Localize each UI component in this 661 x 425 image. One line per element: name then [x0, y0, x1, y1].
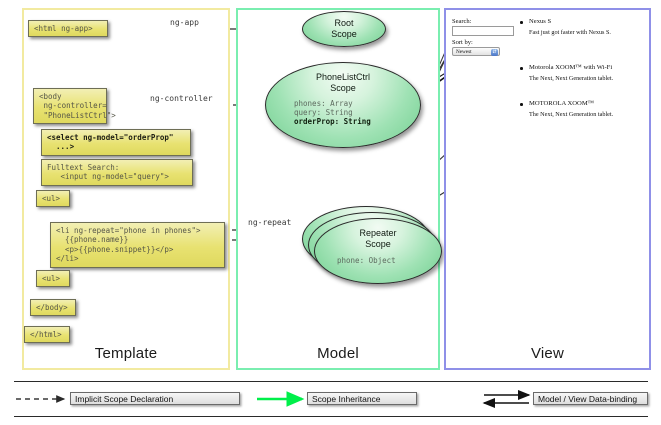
- edge-label-ng-app: ng-app: [168, 18, 201, 27]
- view-sort-select[interactable]: Newest ⇵: [452, 47, 500, 56]
- view-sort-label: Sort by:: [452, 39, 473, 46]
- view-search-input[interactable]: [452, 26, 514, 36]
- edge-label-ng-repeat: ng-repeat: [246, 218, 293, 227]
- panel-template-label: Template: [24, 345, 228, 362]
- scope-phonelistctrl: PhoneListCtrl Scope phones: Array query:…: [265, 62, 421, 148]
- scope-root-title-2: Scope: [303, 29, 385, 40]
- legend-bottom-rule: [14, 416, 648, 417]
- view-phone-name: MOTOROLA XOOM™: [529, 100, 594, 107]
- panel-model-label: Model: [238, 345, 438, 362]
- code-select-tag: <select ng-model="orderProp" ...>: [41, 129, 191, 156]
- legend-item-scope-inheritance: Scope Inheritance: [307, 392, 417, 405]
- scope-prop-phones: phones: Array: [294, 99, 420, 108]
- code-body-close: </body>: [30, 299, 76, 316]
- code-body-open: <body ng-controller= "PhoneListCtrl">: [33, 88, 107, 124]
- view-phone-snippet: The Next, Next Generation tablet.: [529, 75, 613, 82]
- scope-repeater-title-1: Repeater: [315, 219, 441, 239]
- scope-root: Root Scope: [302, 11, 386, 47]
- view-sort-value: Newest: [456, 49, 472, 55]
- scope-prop-orderprop: orderProp: String: [294, 117, 420, 126]
- scope-root-title-1: Root: [303, 12, 385, 29]
- code-html-close: </html>: [24, 326, 70, 343]
- view-phone-name: Motorola XOOM™ with Wi-Fi: [529, 64, 612, 71]
- view-phone-snippet: Fast just got faster with Nexus S.: [529, 29, 611, 36]
- code-li-repeat: <li ng-repeat="phone in phones"> {{phone…: [50, 222, 225, 268]
- bullet-icon: [520, 21, 523, 24]
- code-ul-close: <ul>: [36, 270, 70, 287]
- legend-item-implicit-scope-declaration: Implicit Scope Declaration: [70, 392, 240, 405]
- scope-prop-phone: phone: Object: [337, 256, 441, 265]
- panel-view: View: [444, 8, 651, 370]
- legend: Implicit Scope Declaration Scope Inherit…: [14, 381, 648, 417]
- code-search-input: Fulltext Search: <input ng-model="query"…: [41, 159, 193, 186]
- view-phone-snippet: The Next, Next Generation tablet.: [529, 111, 613, 118]
- code-html-open: <html ng-app>: [28, 20, 108, 37]
- bullet-icon: [520, 67, 523, 70]
- scope-phonelistctrl-title-2: Scope: [266, 83, 420, 94]
- view-search-label: Search:: [452, 18, 472, 25]
- diagram-canvas: Template <html ng-app> <body ng-controll…: [0, 0, 661, 425]
- view-phone-name: Nexus S: [529, 18, 551, 25]
- scope-prop-query: query: String: [294, 108, 420, 117]
- scope-repeater-title-2: Scope: [315, 239, 441, 250]
- scope-phonelistctrl-title-1: PhoneListCtrl: [266, 63, 420, 83]
- legend-top-rule: [14, 381, 648, 382]
- panel-view-label: View: [446, 345, 649, 362]
- legend-item-model-view-data-binding: Model / View Data-binding: [533, 392, 648, 405]
- scope-repeater: Repeater Scope phone: Object: [314, 218, 442, 284]
- code-ul-open: <ul>: [36, 190, 70, 207]
- bullet-icon: [520, 103, 523, 106]
- chevron-down-icon: ⇵: [491, 49, 498, 56]
- edge-label-ng-controller: ng-controller: [148, 94, 215, 103]
